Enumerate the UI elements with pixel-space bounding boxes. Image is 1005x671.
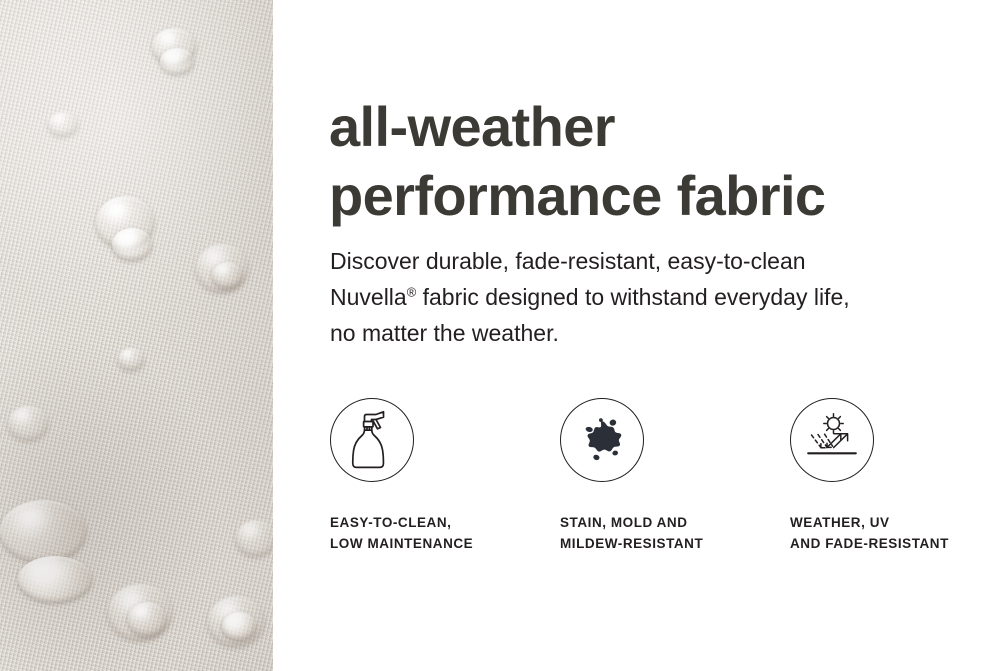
feature-label-line-2: LOW MAINTENANCE [330, 533, 560, 554]
all-weather-fabric-banner: all-weather performance fabric Discover … [0, 0, 1005, 671]
feature-label: STAIN, MOLD AND MILDEW-RESISTANT [560, 512, 790, 554]
water-beading-on-fabric-photo [0, 0, 273, 671]
brand-name: Nuvella [330, 284, 407, 310]
subcopy: Discover durable, fade-resistant, easy-t… [330, 243, 970, 351]
spray-bottle-icon [330, 398, 414, 482]
feature-weather-uv-resistant: WEATHER, UV AND FADE-RESISTANT [790, 398, 1005, 554]
page-title: all-weather performance fabric [329, 92, 979, 230]
subcopy-line-1: Discover durable, fade-resistant, easy-t… [330, 243, 970, 279]
headline-line-2: performance fabric [329, 161, 979, 230]
feature-label-line-1: WEATHER, UV [790, 512, 1005, 533]
feature-label-line-1: STAIN, MOLD AND [560, 512, 790, 533]
feature-label: EASY-TO-CLEAN, LOW MAINTENANCE [330, 512, 560, 554]
subcopy-line-2-rest: fabric designed to withstand everyday li… [416, 284, 849, 310]
feature-label-line-1: EASY-TO-CLEAN, [330, 512, 560, 533]
subcopy-line-3: no matter the weather. [330, 315, 970, 351]
feature-label-line-2: AND FADE-RESISTANT [790, 533, 1005, 554]
content-column: all-weather performance fabric Discover … [273, 0, 1005, 671]
feature-easy-to-clean: EASY-TO-CLEAN, LOW MAINTENANCE [330, 398, 560, 554]
stain-splat-icon [560, 398, 644, 482]
headline-line-1: all-weather [329, 92, 979, 161]
feature-stain-resistant: STAIN, MOLD AND MILDEW-RESISTANT [560, 398, 790, 554]
fabric-shading-overlay [0, 0, 273, 671]
registered-trademark-mark: ® [407, 284, 417, 299]
feature-label-line-2: MILDEW-RESISTANT [560, 533, 790, 554]
feature-label: WEATHER, UV AND FADE-RESISTANT [790, 512, 1005, 554]
sun-uv-reflect-icon [790, 398, 874, 482]
subcopy-line-2: Nuvella® fabric designed to withstand ev… [330, 279, 970, 315]
